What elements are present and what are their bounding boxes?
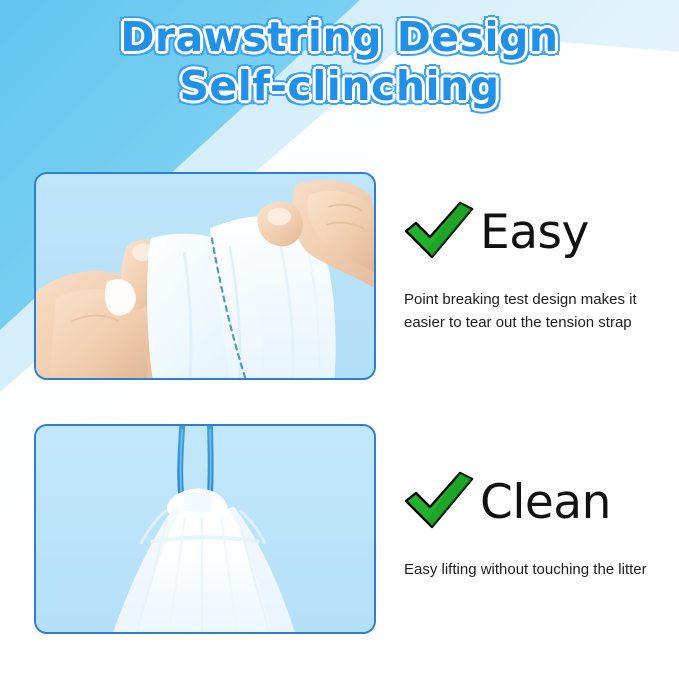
feature-easy: Easy Point breaking test design makes it… bbox=[404, 196, 662, 349]
drawstring-bag-lifted-photo bbox=[34, 424, 376, 634]
feature-clean: Clean Easy lifting without touching the … bbox=[404, 466, 662, 596]
headline-line-1: Drawstring Design bbox=[0, 16, 679, 59]
infographic-page: Drawstring Design Self-clinching bbox=[0, 0, 679, 679]
green-check-icon bbox=[404, 201, 474, 263]
feature-clean-description: Easy lifting without touching the litter bbox=[404, 558, 662, 581]
green-check-icon bbox=[404, 471, 474, 533]
hands-tearing-bag-photo bbox=[34, 172, 376, 380]
feature-clean-title: Clean bbox=[480, 479, 611, 526]
feature-clean-header: Clean bbox=[404, 466, 662, 538]
headline-line-2: Self-clinching bbox=[0, 65, 679, 108]
headline: Drawstring Design Self-clinching bbox=[0, 16, 679, 107]
feature-easy-description: Point breaking test design makes it easi… bbox=[404, 288, 662, 334]
feature-easy-header: Easy bbox=[404, 196, 662, 268]
feature-easy-title: Easy bbox=[480, 209, 589, 256]
